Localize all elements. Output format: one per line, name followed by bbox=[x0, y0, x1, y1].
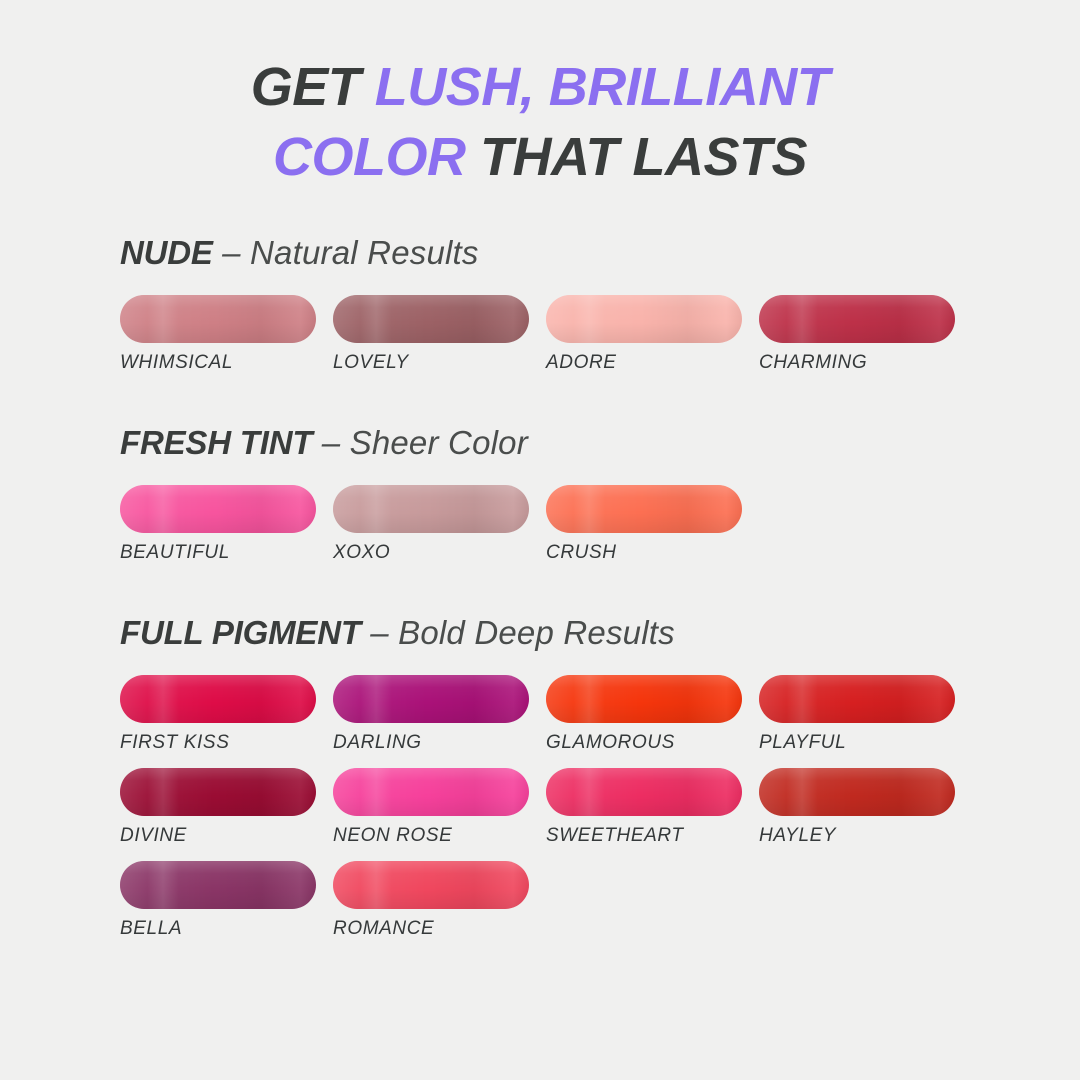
swatch-name-label: ROMANCE bbox=[333, 918, 546, 940]
swatch-name-label: NEON ROSE bbox=[333, 825, 546, 847]
color-swatch[interactable] bbox=[759, 295, 955, 343]
color-swatch[interactable] bbox=[333, 485, 529, 533]
swatch-cell-first-kiss[interactable]: FIRST KISS bbox=[120, 675, 333, 754]
section-description-label: – Sheer Color bbox=[312, 424, 528, 461]
section-fresh-tint: FRESH TINT – Sheer ColorBEAUTIFULXOXOCRU… bbox=[120, 426, 1020, 564]
section-heading-fresh-tint: FRESH TINT – Sheer Color bbox=[120, 426, 1020, 459]
swatch-row: FIRST KISSDARLINGGLAMOROUSPLAYFUL bbox=[120, 675, 1020, 754]
swatch-name-label: CHARMING bbox=[759, 352, 972, 374]
swatch-cell-bella[interactable]: BELLA bbox=[120, 861, 333, 940]
color-swatch[interactable] bbox=[546, 295, 742, 343]
color-swatch[interactable] bbox=[120, 768, 316, 816]
section-category-label: NUDE bbox=[120, 234, 213, 271]
swatch-name-label: PLAYFUL bbox=[759, 732, 972, 754]
swatch-cell-glamorous[interactable]: GLAMOROUS bbox=[546, 675, 759, 754]
swatch-cell-adore[interactable]: ADORE bbox=[546, 295, 759, 374]
section-full-pigment: FULL PIGMENT – Bold Deep ResultsFIRST KI… bbox=[120, 616, 1020, 940]
color-swatch[interactable] bbox=[546, 675, 742, 723]
swatch-cell-divine[interactable]: DIVINE bbox=[120, 768, 333, 847]
swatch-cell-neon-rose[interactable]: NEON ROSE bbox=[333, 768, 546, 847]
swatch-name-label: DIVINE bbox=[120, 825, 333, 847]
color-swatch[interactable] bbox=[120, 861, 316, 909]
color-swatch[interactable] bbox=[120, 485, 316, 533]
headline-word-color: COLOR bbox=[273, 127, 480, 187]
color-swatch[interactable] bbox=[120, 675, 316, 723]
page-headline: GET LUSH, BRILLIANT COLOR THAT LASTS bbox=[0, 0, 1080, 192]
swatch-cell-charming[interactable]: CHARMING bbox=[759, 295, 972, 374]
section-nude: NUDE – Natural ResultsWHIMSICALLOVELYADO… bbox=[120, 236, 1020, 374]
headline-line-2: COLOR THAT LASTS bbox=[0, 122, 1080, 192]
swatch-name-label: BEAUTIFUL bbox=[120, 542, 333, 564]
swatch-cell-sweetheart[interactable]: SWEETHEART bbox=[546, 768, 759, 847]
color-swatch[interactable] bbox=[333, 861, 529, 909]
swatch-name-label: DARLING bbox=[333, 732, 546, 754]
headline-word-get: GET bbox=[251, 57, 375, 117]
swatch-cell-crush[interactable]: CRUSH bbox=[546, 485, 759, 564]
section-heading-nude: NUDE – Natural Results bbox=[120, 236, 1020, 269]
swatch-cell-darling[interactable]: DARLING bbox=[333, 675, 546, 754]
shade-sections: NUDE – Natural ResultsWHIMSICALLOVELYADO… bbox=[0, 236, 1080, 940]
swatch-name-label: SWEETHEART bbox=[546, 825, 759, 847]
swatch-name-label: WHIMSICAL bbox=[120, 352, 333, 374]
headline-words-that-lasts: THAT LASTS bbox=[480, 127, 807, 187]
color-swatch[interactable] bbox=[546, 768, 742, 816]
swatch-row: BELLAROMANCE bbox=[120, 861, 1020, 940]
swatch-name-label: BELLA bbox=[120, 918, 333, 940]
swatch-cell-romance[interactable]: ROMANCE bbox=[333, 861, 546, 940]
swatch-cell-xoxo[interactable]: XOXO bbox=[333, 485, 546, 564]
swatch-cell-lovely[interactable]: LOVELY bbox=[333, 295, 546, 374]
swatch-cell-whimsical[interactable]: WHIMSICAL bbox=[120, 295, 333, 374]
color-swatch[interactable] bbox=[120, 295, 316, 343]
swatch-name-label: FIRST KISS bbox=[120, 732, 333, 754]
swatch-name-label: LOVELY bbox=[333, 352, 546, 374]
section-description-label: – Bold Deep Results bbox=[361, 614, 675, 651]
swatch-name-label: GLAMOROUS bbox=[546, 732, 759, 754]
color-swatch[interactable] bbox=[333, 295, 529, 343]
headline-words-lush-brilliant: LUSH, BRILLIANT bbox=[375, 57, 829, 117]
swatch-cell-beautiful[interactable]: BEAUTIFUL bbox=[120, 485, 333, 564]
swatch-name-label: CRUSH bbox=[546, 542, 759, 564]
swatch-row: DIVINENEON ROSESWEETHEARTHAYLEY bbox=[120, 768, 1020, 847]
swatch-name-label: HAYLEY bbox=[759, 825, 972, 847]
color-swatch[interactable] bbox=[546, 485, 742, 533]
headline-line-1: GET LUSH, BRILLIANT bbox=[0, 52, 1080, 122]
swatch-cell-hayley[interactable]: HAYLEY bbox=[759, 768, 972, 847]
color-swatch[interactable] bbox=[333, 768, 529, 816]
swatch-cell-playful[interactable]: PLAYFUL bbox=[759, 675, 972, 754]
color-swatch[interactable] bbox=[759, 768, 955, 816]
color-swatch[interactable] bbox=[333, 675, 529, 723]
section-category-label: FRESH TINT bbox=[120, 424, 312, 461]
section-description-label: – Natural Results bbox=[213, 234, 479, 271]
swatch-row: WHIMSICALLOVELYADORECHARMING bbox=[120, 295, 1020, 374]
color-swatch[interactable] bbox=[759, 675, 955, 723]
section-heading-full-pigment: FULL PIGMENT – Bold Deep Results bbox=[120, 616, 1020, 649]
swatch-name-label: ADORE bbox=[546, 352, 759, 374]
swatch-row: BEAUTIFULXOXOCRUSH bbox=[120, 485, 1020, 564]
swatch-name-label: XOXO bbox=[333, 542, 546, 564]
section-category-label: FULL PIGMENT bbox=[120, 614, 361, 651]
